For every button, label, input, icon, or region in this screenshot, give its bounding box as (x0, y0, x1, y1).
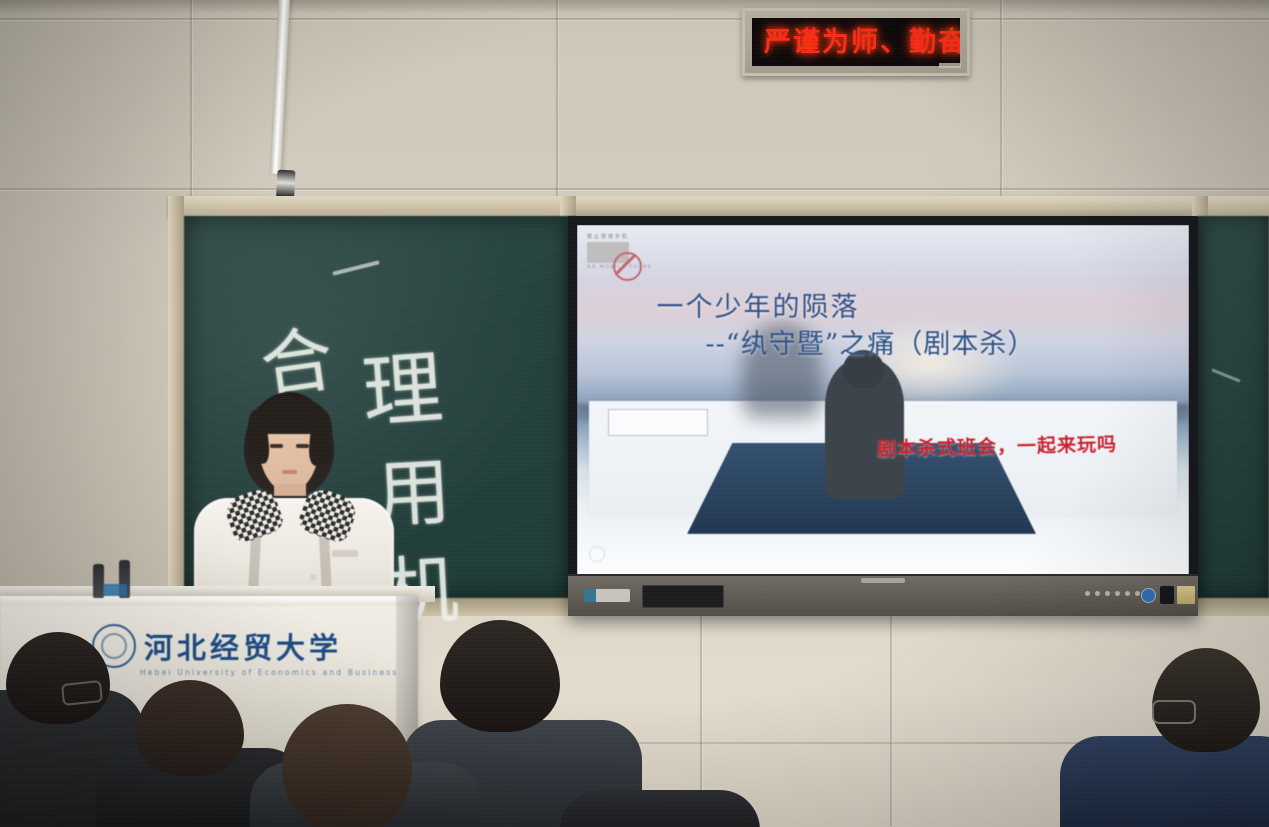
presenter-eye (296, 444, 309, 448)
wall-seam-vertical (1000, 0, 1002, 196)
presenter-eye (270, 444, 283, 448)
audience-member-body (1060, 736, 1269, 827)
port-icon[interactable] (1115, 591, 1120, 596)
glasses-icon (61, 680, 103, 706)
screen-bezel (568, 216, 1198, 616)
university-name-cn: 河北经贸大学 (144, 625, 342, 667)
bezel-center-mark (861, 578, 905, 583)
classroom-scene: 严谨为师、勤奋为 合 理 用 机 (0, 0, 1269, 827)
display-brand-logo (584, 589, 630, 602)
power-button[interactable] (1141, 588, 1156, 603)
wall-seam-vertical (556, 0, 558, 196)
smart-display[interactable]: 禁止使用手机 NO MOBILE PHONE 一个少年的陨落 --“纨守暨”之痛… (568, 216, 1198, 616)
led-indicator (939, 63, 961, 68)
university-name-en: Hebei University of Economics and Busine… (140, 668, 399, 677)
port-icon[interactable] (1095, 591, 1100, 596)
presenter-jacket-tag (332, 550, 358, 557)
display-control-bar[interactable] (568, 574, 1198, 616)
podium-top-edge (0, 596, 418, 606)
display-label-tag (1177, 586, 1195, 604)
display-panel-slot[interactable] (642, 585, 724, 608)
presenter-mouth (282, 470, 297, 474)
audience-member-head (282, 704, 412, 827)
led-banner-text: 严谨为师、勤奋为 (752, 29, 960, 56)
blue-box (103, 584, 127, 596)
wall-seam-vertical (190, 0, 192, 196)
audience-member-body (560, 790, 760, 827)
display-ports[interactable] (1085, 591, 1140, 596)
board-frame-top (168, 196, 1269, 216)
ir-sensor-icon (1160, 586, 1174, 604)
port-icon[interactable] (1105, 591, 1110, 596)
port-icon[interactable] (1125, 591, 1130, 596)
led-panel: 严谨为师、勤奋为 (752, 18, 960, 66)
led-banner-sign: 严谨为师、勤奋为 (742, 8, 970, 76)
chalkboard-right-panel (1197, 216, 1269, 598)
chalk-stroke (332, 260, 380, 275)
presenter (186, 392, 400, 610)
board-frame-left (168, 196, 184, 616)
port-icon[interactable] (1135, 591, 1140, 596)
port-icon[interactable] (1085, 591, 1090, 596)
podium-right-edge (396, 596, 418, 746)
glasses-icon (1152, 700, 1196, 724)
lower-wall-seam-vertical (890, 616, 892, 826)
podium-branding: 河北经贸大学 (92, 624, 342, 668)
presenter-jacket-button (310, 574, 316, 580)
chalk-stroke (1212, 368, 1241, 382)
